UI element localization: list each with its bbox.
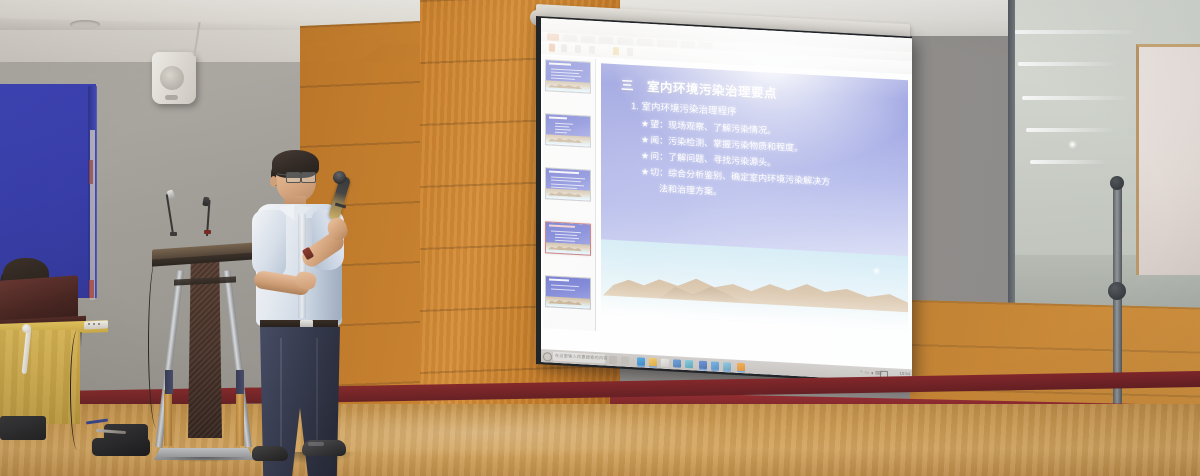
ribbon-icon-shapes[interactable]: [613, 47, 619, 55]
ribbon-icon-paragraph[interactable]: [589, 46, 595, 54]
glass-reflection: [1030, 160, 1104, 164]
star-bullet-icon: ★: [641, 151, 649, 161]
ceiling-vent-icon: [70, 20, 100, 29]
glass-reflection: [1018, 62, 1114, 66]
ribbon-tab-insert[interactable]: [581, 35, 595, 43]
wall-speaker-icon: [152, 52, 196, 104]
ribbon-icon-paste[interactable]: [549, 43, 555, 51]
remote-button[interactable]: [98, 323, 100, 325]
lectern-leg-trim-left: [164, 390, 172, 446]
excel-icon[interactable]: [711, 361, 719, 369]
mail-icon[interactable]: [673, 359, 681, 367]
ear: [270, 176, 277, 187]
door-frame: [90, 130, 95, 300]
list-item[interactable]: [546, 114, 590, 146]
ribbon-icon-arrange[interactable]: [627, 48, 633, 56]
trouser-crease-left: [280, 338, 282, 458]
slide-bullet-list: ★望：现场观察、了解污染情况。 ★闻：污染检测、掌握污染物质和程度。 ★问：了解…: [641, 116, 894, 210]
lectern-leg-band-left: [165, 370, 173, 394]
glass-reflection: [1014, 30, 1134, 34]
glasses-lens-left: [286, 172, 301, 183]
ribbon-tab-file[interactable]: [547, 33, 559, 41]
ribbon-tab-review[interactable]: [681, 41, 695, 49]
presentation-remote[interactable]: [84, 320, 108, 329]
ribbon-icon-font[interactable]: [575, 45, 581, 53]
wood-wainscot-right: [910, 300, 1200, 416]
thumbnail-title-line: [549, 62, 571, 65]
speaker-port: [165, 95, 178, 100]
glass-reflection: [1026, 128, 1112, 132]
control-table-front: [0, 330, 80, 424]
thumbnail-text-line: [551, 72, 579, 75]
list-item[interactable]: [546, 276, 590, 308]
laptop-power-cable: [70, 330, 85, 450]
door-handle: [89, 280, 94, 298]
floor-reflection: [330, 408, 850, 468]
remote-button[interactable]: [93, 323, 95, 325]
thumbnail-text-line: [555, 132, 567, 134]
lectern-front-panel: [188, 262, 222, 438]
lectern-shadow: [150, 457, 258, 464]
thumbnail-text-line: [555, 123, 573, 125]
ribbon-tab-design[interactable]: [599, 36, 613, 44]
shirt-placket: [298, 214, 306, 318]
equipment-bag: [92, 438, 150, 456]
thumbnail-text-line: [551, 78, 575, 80]
glasses-lens-right: [301, 172, 316, 183]
edge-browser-icon[interactable]: [637, 357, 645, 365]
thumbnail-title-line: [549, 170, 579, 174]
lectern-leg-band-right: [236, 370, 244, 394]
thumbnail-text-line: [551, 75, 581, 78]
ribbon-tab-animations[interactable]: [637, 38, 653, 46]
star-bullet-icon: ★: [641, 119, 649, 129]
store-icon[interactable]: [661, 358, 669, 366]
whiteboard: [1136, 44, 1200, 275]
projection-screen: 三 室内环境污染治理要点 1. 室内环境污染治理程序 ★望：现场观察、了解污染情…: [541, 18, 912, 382]
ribbon-tab-home[interactable]: [563, 34, 577, 42]
shoe-left: [252, 446, 288, 461]
presenter: [246, 148, 364, 464]
door-sign: [89, 160, 93, 184]
speaker-cone: [160, 66, 184, 90]
sun-icon: [873, 267, 880, 274]
shoe-highlight: [308, 442, 324, 446]
glass-reflection: [1022, 96, 1126, 100]
media-player-icon[interactable]: [685, 359, 693, 367]
star-bullet-icon: ★: [641, 135, 649, 145]
thumbnail-title-line: [549, 278, 569, 281]
thumbnail-text-line: [551, 180, 581, 183]
ceiling-light-reflection: [1068, 140, 1077, 149]
wps-icon[interactable]: [737, 362, 745, 370]
lectern-cable: [148, 258, 165, 428]
gooseneck-microphone-base: [170, 232, 177, 236]
thumbnail-title-line: [549, 116, 567, 119]
list-item[interactable]: [546, 168, 590, 200]
list-item[interactable]: [546, 222, 590, 254]
ribbon-icon-new-slide[interactable]: [561, 44, 567, 52]
start-button-icon[interactable]: [543, 352, 552, 361]
glasses-bridge: [298, 175, 302, 176]
star-bullet-icon: ★: [641, 167, 649, 177]
ribbon-tab-view[interactable]: [699, 42, 713, 50]
ribbon-tab-slideshow[interactable]: [657, 39, 677, 47]
thumbnail-text-line: [555, 126, 569, 128]
lectern: [150, 228, 258, 464]
thumbnail-text-line: [555, 129, 571, 131]
whiteboard-clamp-upper: [1110, 176, 1124, 190]
gooseneck-microphone-base: [204, 230, 211, 234]
thumbnail-text-line: [555, 237, 579, 239]
remote-button[interactable]: [88, 323, 90, 325]
thumbnail-title-line: [549, 224, 575, 227]
word-icon[interactable]: [699, 360, 707, 368]
thumbnail-text-line: [551, 289, 575, 291]
glass-mullion: [1008, 0, 1015, 330]
lecture-hall-photo: 三 室内环境污染治理要点 1. 室内环境污染治理程序 ★望：现场观察、了解污染情…: [0, 0, 1200, 476]
whiteboard-clamp-lower: [1108, 282, 1126, 300]
ribbon-tab-transitions[interactable]: [617, 37, 633, 45]
thumbnail-text-line: [555, 240, 575, 242]
thumbnail-text-line: [551, 285, 579, 288]
slide-canvas[interactable]: 三 室内环境污染治理要点 1. 室内环境污染治理程序 ★望：现场观察、了解污染情…: [601, 63, 908, 330]
lectern-leg-trim-right: [236, 390, 244, 446]
floor-equipment-box: [0, 416, 46, 440]
file-explorer-icon[interactable]: [649, 357, 657, 365]
slide-subtitle: 1. 室内环境污染治理程序: [631, 98, 737, 118]
shirt-sleeve-left: [252, 210, 286, 276]
thumbnail-text-line: [551, 231, 581, 234]
trouser-crease-right: [316, 338, 318, 456]
panel-divider: [595, 59, 596, 331]
cortana-icon[interactable]: [621, 356, 629, 364]
desk-microphone-head: [22, 324, 31, 333]
powerpoint-icon[interactable]: [723, 362, 731, 370]
thumbnail-text-line: [555, 234, 577, 236]
task-view-icon[interactable]: [609, 355, 617, 363]
list-item[interactable]: [546, 60, 590, 92]
